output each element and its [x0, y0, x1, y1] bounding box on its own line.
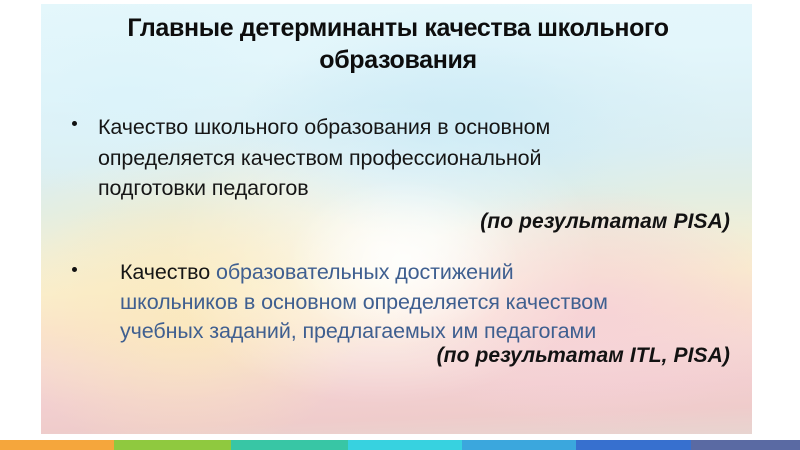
- slide-body: Качество школьного образования в основно…: [0, 0, 800, 450]
- bullet-2-lead-word: Качество: [120, 260, 210, 284]
- bullet-1-row: Качество школьного образования в основно…: [72, 112, 722, 204]
- bullet-1-attribution: (по результатам PISA): [200, 210, 730, 234]
- bullet-2-text: Качество образовательных достижений школ…: [72, 258, 722, 347]
- bullet-1-line-2: определяется качеством профессиональной: [98, 143, 722, 174]
- bullet-item-2: Качество образовательных достижений школ…: [72, 258, 722, 347]
- presentation-slide: Главные детерминанты качества школьного …: [0, 0, 800, 450]
- bullet-1-text: Качество школьного образования в основно…: [72, 112, 722, 204]
- bullet-2-attribution: (по результатам ITL, PISA): [200, 344, 730, 368]
- bullet-dot-icon: [72, 267, 77, 272]
- bullet-2-row: Качество образовательных достижений школ…: [72, 258, 722, 347]
- bullet-2-line-3: учебных заданий, предлагаемых им педагог…: [120, 317, 722, 347]
- bullet-2-accent-1: образовательных достижений: [210, 260, 513, 284]
- bullet-item-1: Качество школьного образования в основно…: [72, 112, 722, 204]
- bullet-1-line-3: подготовки педагогов: [98, 173, 722, 204]
- bullet-1-line-1: Качество школьного образования в основно…: [98, 112, 722, 143]
- bullet-2-line-1: Качество образовательных достижений: [120, 258, 722, 288]
- bullet-2-line-2: школьников в основном определяется качес…: [120, 288, 722, 318]
- bullet-dot-icon: [72, 121, 77, 126]
